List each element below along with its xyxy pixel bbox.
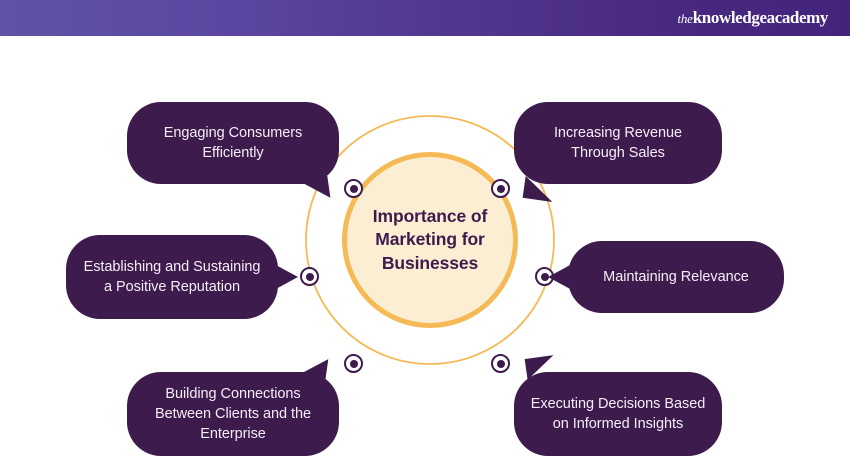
brand-logo-prefix: the bbox=[677, 11, 692, 26]
callout-label-top-left: Engaging Consumers Efficiently bbox=[143, 123, 323, 163]
callout-bubble-top-right: Increasing Revenue Through Sales bbox=[514, 102, 722, 184]
bubble-tail bbox=[548, 264, 572, 290]
connector-marker-top-left bbox=[344, 179, 363, 198]
callout-bubble-middle-right: Maintaining Relevance bbox=[568, 241, 784, 313]
brand-logo-name: knowledgeacademy bbox=[693, 8, 828, 27]
callout-bubble-middle-left: Establishing and Sustaining a Positive R… bbox=[66, 235, 278, 319]
callout-label-middle-left: Establishing and Sustaining a Positive R… bbox=[82, 257, 262, 297]
connector-marker-bottom-right bbox=[491, 354, 510, 373]
connector-marker-middle-left bbox=[300, 267, 319, 286]
diagram-canvas: Importance of Marketing for Businesses E… bbox=[0, 36, 850, 450]
center-node: Importance of Marketing for Businesses bbox=[342, 152, 518, 328]
bubble-tail bbox=[525, 355, 557, 380]
marker-dot-icon bbox=[350, 185, 358, 193]
connector-marker-bottom-left bbox=[344, 354, 363, 373]
bubble-tail bbox=[523, 176, 556, 202]
bubble-tail bbox=[274, 264, 298, 290]
marker-dot-icon bbox=[497, 185, 505, 193]
marker-dot-icon bbox=[350, 360, 358, 368]
callout-bubble-bottom-left: Building Connections Between Clients and… bbox=[127, 372, 339, 456]
callout-bubble-bottom-right: Executing Decisions Based on Informed In… bbox=[514, 372, 722, 456]
marker-dot-icon bbox=[497, 360, 505, 368]
bubble-tail bbox=[298, 176, 331, 202]
center-node-label: Importance of Marketing for Businesses bbox=[347, 205, 513, 274]
brand-logo: theknowledgeacademy bbox=[677, 9, 828, 27]
callout-bubble-top-left: Engaging Consumers Efficiently bbox=[127, 102, 339, 184]
callout-label-middle-right: Maintaining Relevance bbox=[603, 267, 749, 287]
callout-label-top-right: Increasing Revenue Through Sales bbox=[530, 123, 706, 163]
bubble-tail bbox=[297, 355, 329, 380]
connector-marker-top-right bbox=[491, 179, 510, 198]
marker-dot-icon bbox=[306, 273, 314, 281]
infographic-page: theknowledgeacademy Importance of Market… bbox=[0, 0, 850, 450]
callout-label-bottom-right: Executing Decisions Based on Informed In… bbox=[530, 394, 706, 434]
callout-label-bottom-left: Building Connections Between Clients and… bbox=[143, 384, 323, 444]
page-header: theknowledgeacademy bbox=[0, 0, 850, 36]
